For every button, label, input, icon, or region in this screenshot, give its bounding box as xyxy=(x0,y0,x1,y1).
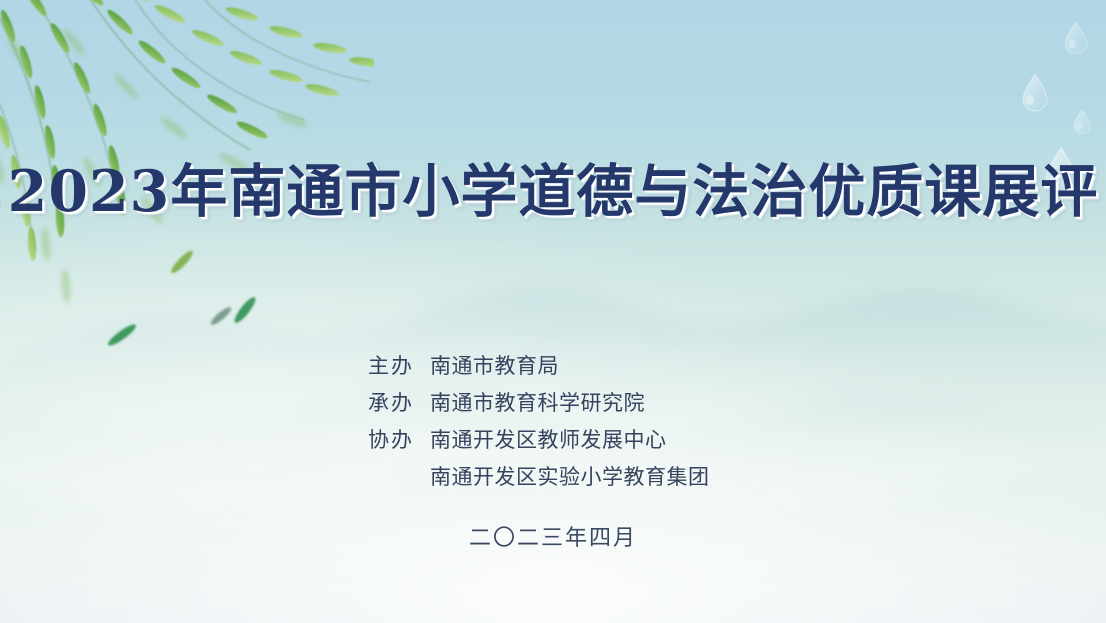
organizer-row: 协办 南通开发区教师发展中心 xyxy=(368,422,710,459)
water-droplet-decoration xyxy=(1072,108,1092,134)
drifting-leaf-decoration xyxy=(222,292,268,328)
water-droplet-decoration xyxy=(1063,20,1089,54)
drifting-leaf-decoration xyxy=(160,246,204,278)
organizer-row: 南通开发区实验小学教育集团 xyxy=(368,459,710,496)
organizer-value: 南通开发区实验小学教育集团 xyxy=(430,459,710,496)
organizer-value: 南通开发区教师发展中心 xyxy=(430,422,667,459)
water-droplet-decoration xyxy=(1020,72,1050,112)
organizer-label: 协办 xyxy=(368,422,430,459)
organizer-label: 承办 xyxy=(368,385,430,422)
drifting-leaf-decoration xyxy=(200,300,242,332)
organizer-row: 主办 南通市教育局 xyxy=(368,348,710,385)
slide-date: 二〇二三年四月 xyxy=(0,520,1106,552)
slide-title: 2023年南通市小学道德与法治优质课展评 xyxy=(0,163,1106,220)
presentation-title-slide: 2023年南通市小学道德与法治优质课展评 主办 南通市教育局 承办 南通市教育科… xyxy=(0,0,1106,623)
drifting-leaf-decoration xyxy=(98,318,146,352)
organizer-list: 主办 南通市教育局 承办 南通市教育科学研究院 协办 南通开发区教师发展中心 南… xyxy=(368,348,710,496)
organizer-value: 南通市教育局 xyxy=(430,348,559,385)
organizer-value: 南通市教育科学研究院 xyxy=(430,385,645,422)
organizer-label: 主办 xyxy=(368,348,430,385)
organizer-row: 承办 南通市教育科学研究院 xyxy=(368,385,710,422)
